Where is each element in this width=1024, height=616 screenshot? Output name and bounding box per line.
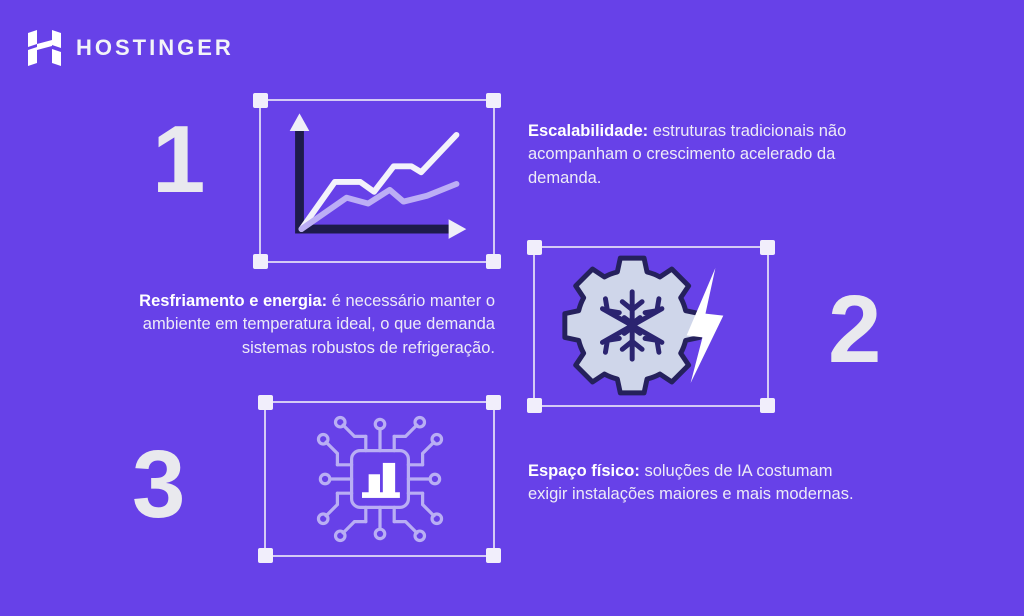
cpu-chip-bar-chart-icon (309, 408, 451, 550)
infographic-canvas: HOSTINGER 1 Escalabilidade: estrut (0, 0, 1024, 616)
icon-frame-1 (253, 93, 501, 269)
item-title-2: Resfriamento e energia: (139, 292, 327, 310)
snowflake-gear-bolt-icon (547, 252, 755, 401)
icon-frame-3 (258, 395, 501, 563)
item-title-3: Espaço físico: (528, 462, 640, 480)
icon-art-1 (259, 99, 495, 263)
item-number-1: 1 (152, 112, 204, 208)
hostinger-h-mark-icon (28, 30, 62, 66)
item-title-1: Escalabilidade: (528, 122, 648, 140)
icon-frame-2 (527, 240, 775, 413)
item-number-3: 3 (132, 437, 184, 533)
brand-logo: HOSTINGER (28, 30, 234, 66)
item-text-3: Espaço físico: soluções de IA costumam e… (528, 460, 868, 507)
line-chart-icon (274, 107, 480, 255)
icon-art-2 (533, 246, 769, 407)
item-text-2: Resfriamento e energia: é necessário man… (85, 290, 495, 360)
item-number-2: 2 (828, 282, 880, 378)
inner-bar-chart-icon (362, 463, 400, 498)
brand-name: HOSTINGER (76, 35, 234, 61)
item-text-1: Escalabilidade: estruturas tradicionais … (528, 120, 858, 190)
lightning-bolt-icon (687, 268, 724, 383)
icon-art-3 (264, 401, 495, 557)
